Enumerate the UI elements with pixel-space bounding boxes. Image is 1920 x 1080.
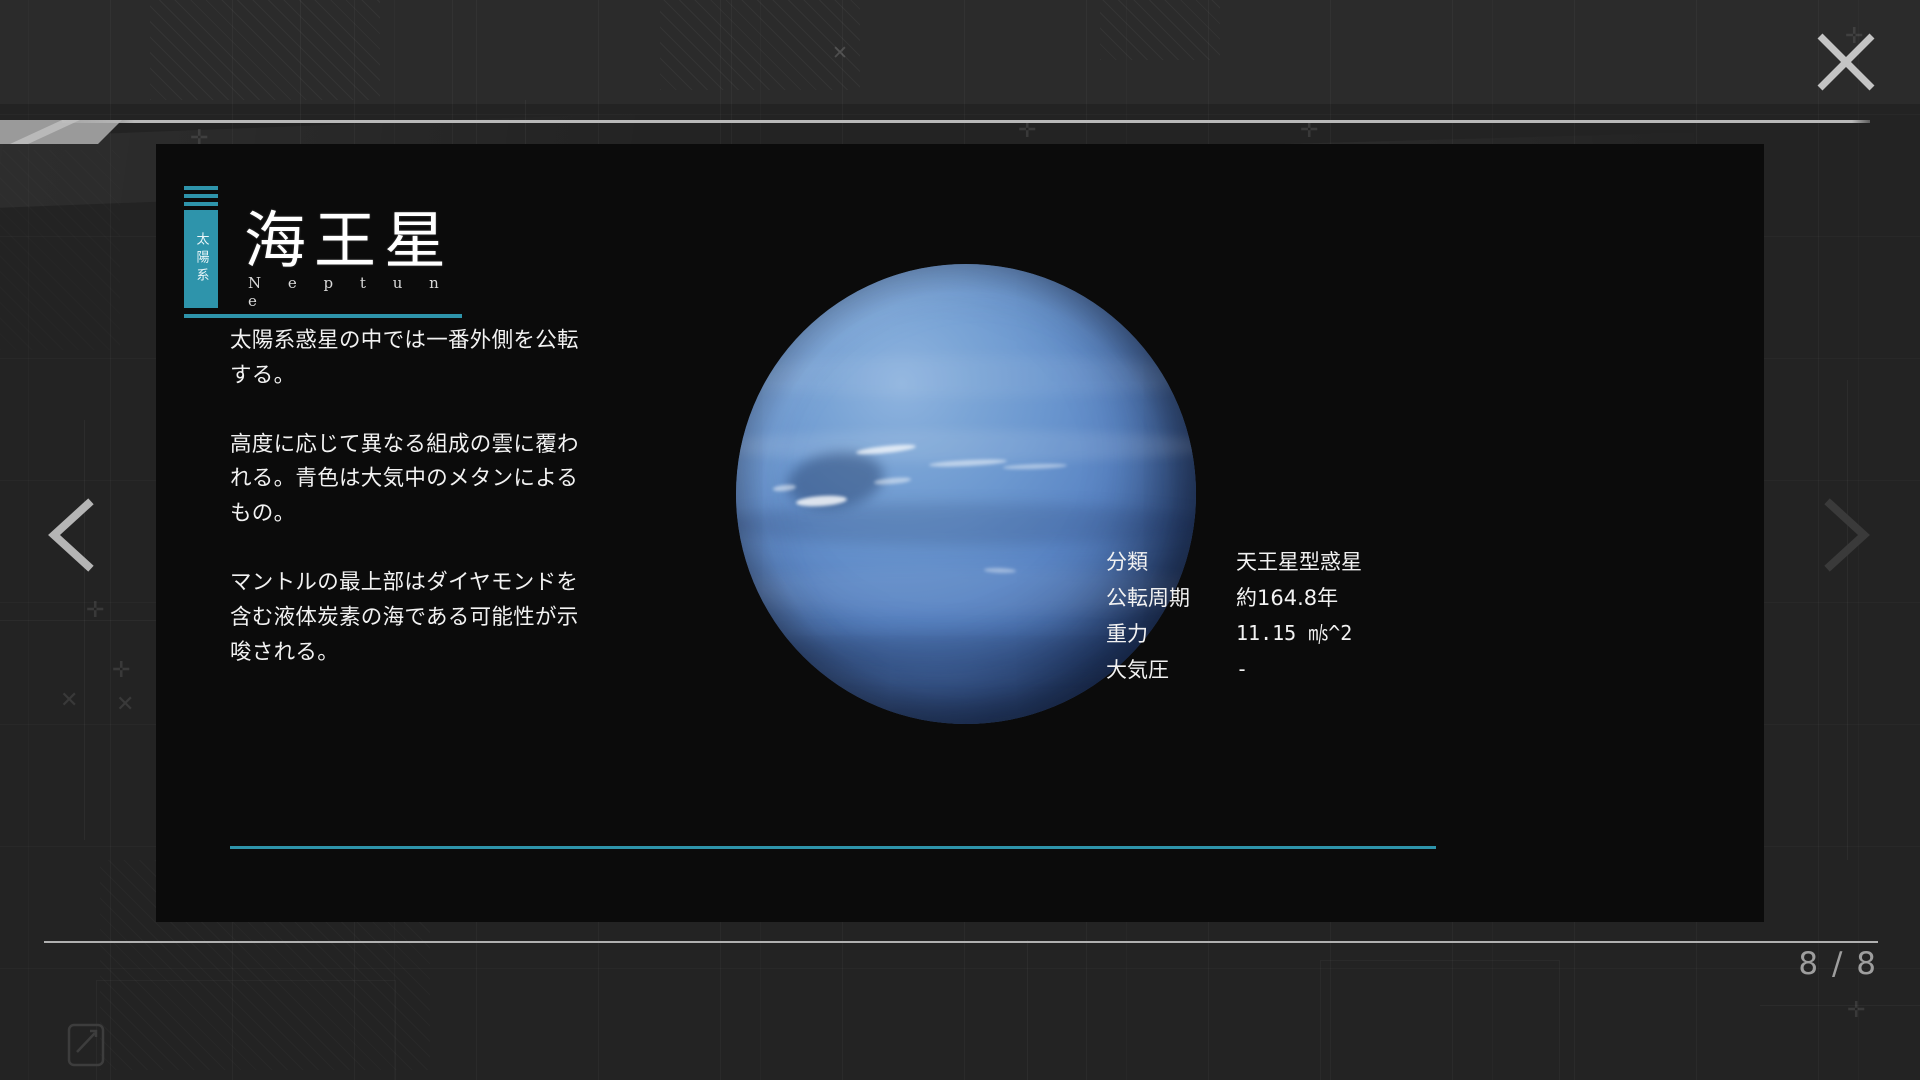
background-guide-line [1760,1005,1920,1006]
spec-key: 分類 [1106,548,1236,577]
page-subtitle: N e p t u n e [248,274,484,310]
description-column: 太陽系惑星の中では一番外側を公転する。 高度に応じて異なる組成の雲に覆われる。青… [230,324,580,671]
top-divider [62,120,1870,123]
spec-row: 大気圧 - [1106,656,1536,685]
background-guide-line [1027,940,1028,1080]
crosshair-marker: ✛ [1847,1000,1865,1022]
spec-value: 約164.8年 [1236,584,1338,613]
spec-row: 重力 11.15 ㎧^2 [1106,620,1536,649]
crosshair-marker: ✛ [1300,120,1318,142]
page-title: 海王星 [244,210,454,272]
next-page-button[interactable] [1812,496,1876,574]
background-guide-line [84,420,85,840]
background-guide-line [1847,380,1848,860]
close-button[interactable] [1810,26,1882,98]
content-panel: 太陽系 海王星 N e p t u n e 太陽系惑星の中では一番外側を公転する… [156,144,1764,922]
page-counter: 8 / 8 [1798,946,1878,982]
category-tab-label: 太陽系 [192,232,211,286]
description-paragraph: 高度に応じて異なる組成の雲に覆われる。青色は大気中のメタンによるもの。 [230,428,580,532]
background-outline-box [1320,960,1560,1080]
background-guide-line [0,620,160,621]
background-outline-box [96,980,396,1080]
crosshair-marker: ✕ [60,690,78,712]
background-hatch [1100,0,1220,60]
tab-stripes [184,186,218,210]
prev-page-button[interactable] [42,496,106,574]
spec-row: 分類 天王星型惑星 [1106,548,1536,577]
crosshair-marker: ✕ [116,694,134,716]
description-paragraph: マントルの最上部はダイヤモンドを含む液体炭素の海である可能性が示唆される。 [230,566,580,670]
spec-row: 公転周期 約164.8年 [1106,584,1536,613]
spec-table: 分類 天王星型惑星 公転周期 約164.8年 重力 11.15 ㎧^2 大気圧 … [1106,548,1536,692]
document-icon [66,1022,106,1068]
chevron-right-icon [1812,496,1876,574]
spec-key: 公転周期 [1106,584,1236,613]
spec-key: 重力 [1106,620,1236,649]
title-underline [184,314,462,318]
category-tab: 太陽系 [184,210,218,308]
spec-value: 天王星型惑星 [1236,548,1362,577]
close-icon [1810,26,1882,98]
background-hatch [150,0,380,100]
crosshair-marker: ✛ [86,600,104,622]
x-marker: ✕ [832,44,848,63]
crosshair-marker: ✛ [112,660,130,682]
document-button[interactable] [66,1022,106,1068]
panel-accent-underline [230,846,1436,849]
spec-value: 11.15 ㎧^2 [1236,620,1352,649]
crosshair-marker: ✛ [1018,120,1036,142]
chevron-left-icon [42,496,106,574]
presentation-viewer: ✛ ✛ ✛ ✛ ✛ ✛ ✛ ✕ ✕ ✕ 太陽系 [0,0,1920,1080]
bottom-divider [44,941,1878,943]
spec-key: 大気圧 [1106,656,1236,685]
description-paragraph: 太陽系惑星の中では一番外側を公転する。 [230,324,580,394]
spec-value: - [1236,656,1248,685]
